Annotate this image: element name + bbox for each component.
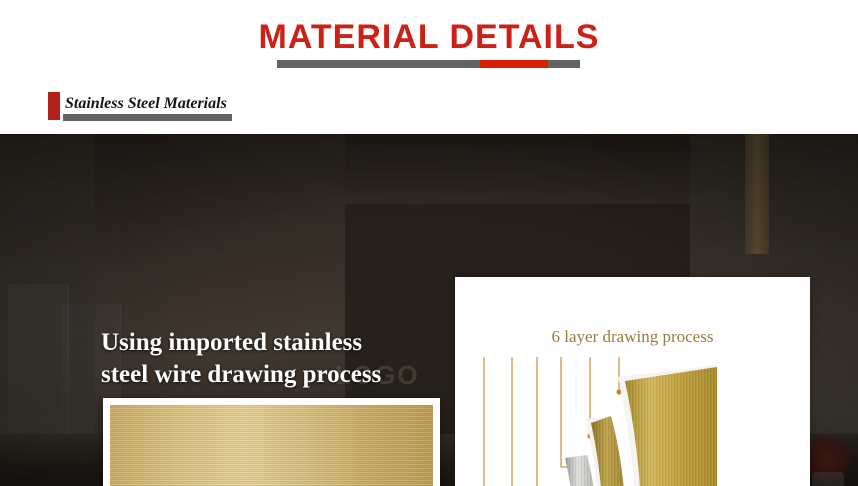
hero-banner: LOGO Using imported stainless steel wire… [0,134,858,486]
layer-shape-6 [618,365,717,486]
hero-headline-line-2: steel wire drawing process [101,359,461,391]
page-title: MATERIAL DETAILS [0,18,858,56]
brushed-gold-sample-swatch [110,405,433,486]
layer-shape-4 [565,455,598,486]
section-underline [63,114,232,121]
card-title: 6 layer drawing process [455,327,810,347]
section-heading: 1 Stainless Steel Materials [48,92,468,126]
section-number: 1 [48,92,60,120]
rule-segment-gray-left [277,60,480,68]
rule-segment-red [480,60,548,68]
gold-sample-frame [103,398,440,486]
layer-shape-5 [586,416,626,486]
material-details-page: MATERIAL DETAILS 1 Stainless Steel Mater… [0,0,858,486]
hero-headline: Using imported stainless steel wire draw… [101,327,461,391]
hero-headline-line-1: Using imported stainless [101,327,461,359]
rule-segment-gray-right [548,60,580,68]
page-header: MATERIAL DETAILS 1 Stainless Steel Mater… [0,0,858,134]
layer-process-card: 6 layer drawing process [455,277,810,486]
six-layer-diagram [455,355,810,486]
title-underline-rule [277,60,580,68]
